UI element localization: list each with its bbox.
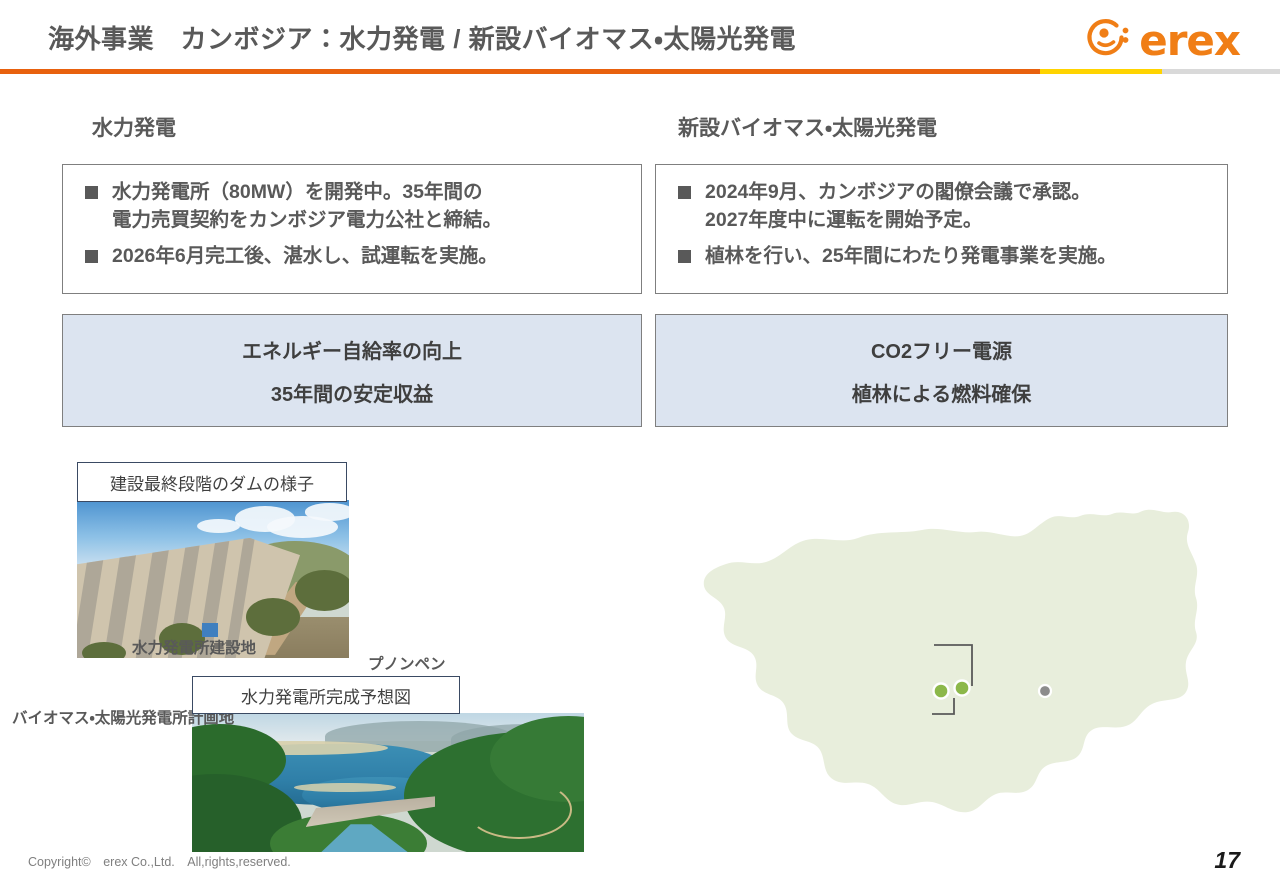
hydro-site-marker: [955, 681, 970, 696]
bullet-text: 植林を行い、25年間にわたり発電事業を実施。: [705, 243, 1117, 271]
vegetation: [246, 598, 300, 636]
accent-segment-orange: [0, 69, 1040, 74]
header-accent-bar: [0, 69, 1280, 74]
benefit-line: CO2フリー電源: [871, 335, 1012, 364]
erex-logo: erex: [1085, 16, 1240, 65]
section-heading-hydro: 水力発電: [92, 112, 176, 142]
cloud: [305, 503, 349, 520]
benefit-box-biomass-solar: CO2フリー電源 植林による燃料確保: [655, 314, 1228, 427]
rendering-photo-caption: 水力発電所完成予想図: [192, 676, 460, 714]
bullet-text: 2024年9月、カンボジアの閣僚会議で承認。 2027年度中に運転を開始予定。: [705, 179, 1091, 234]
bullet-box-biomass-solar: 2024年9月、カンボジアの閣僚会議で承認。 2027年度中に運転を開始予定。 …: [655, 164, 1228, 294]
erex-wordmark: erex: [1139, 20, 1240, 62]
accent-segment-gray: [1162, 69, 1280, 74]
access-path: [466, 780, 572, 840]
dam-photo-caption: 建設最終段階のダムの様子: [77, 462, 347, 502]
cambodia-map: [640, 490, 1240, 840]
bullet-box-hydro: 水力発電所（80MW）を開発中。35年間の 電力売買契約をカンボジア電力公社と締…: [62, 164, 642, 294]
map-label-capital: プノンペン: [368, 652, 446, 674]
section-heading-biomass-solar: 新設バイオマス・太陽光発電: [678, 112, 937, 142]
page-title: 海外事業 カンボジア：水力発電 / 新設バイオマス・太陽光発電: [48, 19, 796, 56]
map-label-hydro-site: 水力発電所建設地: [132, 636, 256, 658]
vegetation: [82, 642, 126, 658]
page-number: 17: [1214, 847, 1240, 874]
benefit-line: 35年間の安定収益: [271, 378, 433, 407]
benefit-line: 植林による燃料確保: [852, 378, 1031, 407]
bullet-item: 植林を行い、25年間にわたり発電事業を実施。: [668, 243, 1217, 271]
bullet-square-icon: [678, 186, 691, 199]
erex-smile-icon: [1085, 16, 1131, 65]
vegetation: [295, 570, 349, 611]
benefit-line: エネルギー自給率の向上: [242, 335, 462, 364]
dam-construction-photo: [77, 500, 349, 658]
accent-segment-yellow: [1040, 69, 1162, 74]
bullet-square-icon: [85, 250, 98, 263]
slide-header: 海外事業 カンボジア：水力発電 / 新設バイオマス・太陽光発電 erex: [0, 0, 1280, 70]
hydro-plant-rendering-photo: [192, 713, 584, 852]
bullet-item: 水力発電所（80MW）を開発中。35年間の 電力売買契約をカンボジア電力公社と締…: [75, 179, 631, 234]
capital-marker: [1039, 685, 1051, 697]
bullet-square-icon: [678, 250, 691, 263]
bullet-item: 2026年6月完工後、湛水し、試運転を実施。: [75, 243, 631, 271]
benefit-box-hydro: エネルギー自給率の向上 35年間の安定収益: [62, 314, 642, 427]
biomass-site-marker: [934, 684, 949, 699]
shoreline: [294, 783, 396, 793]
bullet-item: 2024年9月、カンボジアの閣僚会議で承認。 2027年度中に運転を開始予定。: [668, 179, 1217, 234]
bullet-text: 水力発電所（80MW）を開発中。35年間の 電力売買契約をカンボジア電力公社と締…: [112, 179, 502, 234]
bullet-text: 2026年6月完工後、湛水し、試運転を実施。: [112, 243, 498, 271]
copyright-notice: Copyright© erex Co.,Ltd. All,rights,rese…: [28, 851, 291, 870]
bullet-square-icon: [85, 186, 98, 199]
